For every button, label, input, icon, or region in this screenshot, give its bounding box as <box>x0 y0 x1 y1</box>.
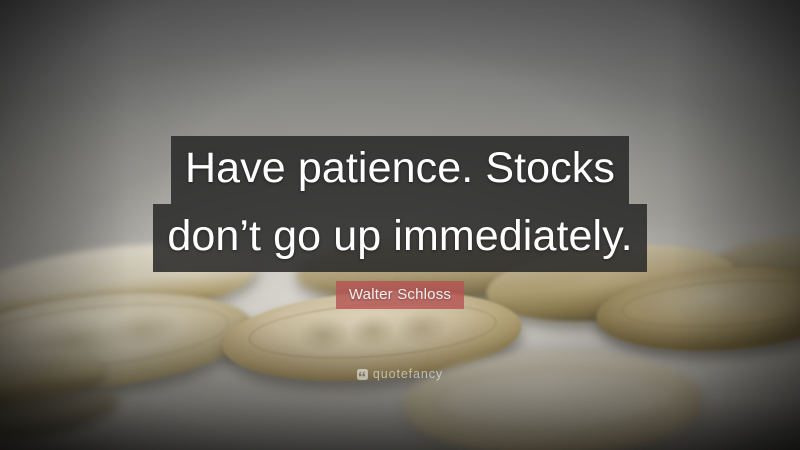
watermark-brand-text: quotefancy <box>373 368 443 381</box>
quote-wallpaper: Have patience. Stocks don’t go up immedi… <box>0 0 800 450</box>
author-row: Walter Schloss <box>0 281 800 309</box>
quote-mark-icon <box>357 369 368 380</box>
author-name-badge: Walter Schloss <box>336 281 464 309</box>
background-photo-coins <box>0 0 800 450</box>
brand-watermark: quotefancy <box>0 368 800 381</box>
